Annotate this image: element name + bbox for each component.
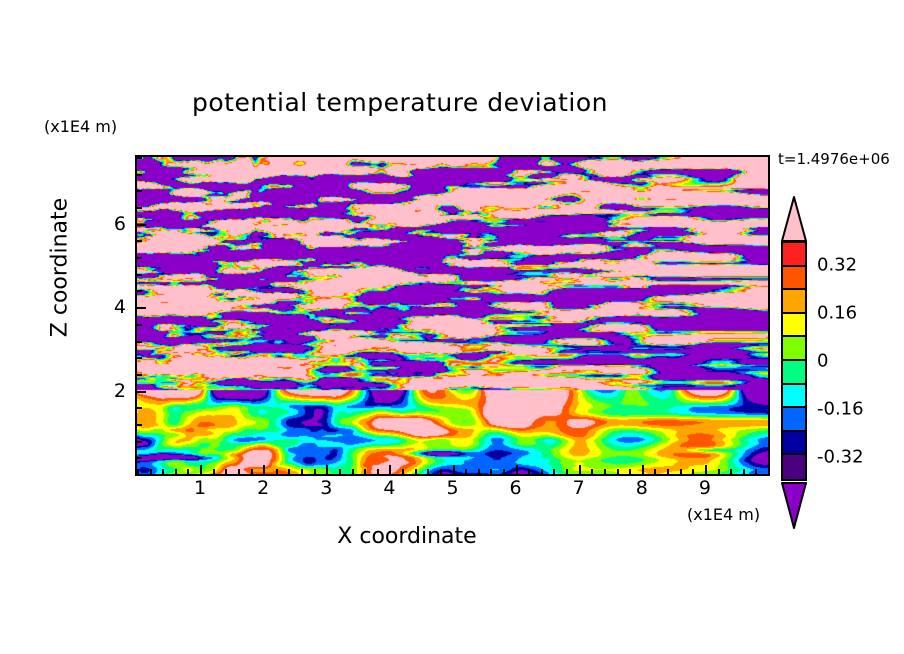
- x-tick: [427, 469, 429, 474]
- x-tick: [453, 465, 455, 474]
- z-tick: [137, 407, 142, 409]
- colorbar-band: [783, 361, 805, 385]
- x-tick: [326, 465, 328, 474]
- colorbar-band: [783, 267, 805, 291]
- colorbar-band: [783, 455, 805, 479]
- x-tick: [579, 465, 581, 474]
- colorbar: 0.320.160-0.16-0.32: [781, 196, 807, 526]
- z-tick: [137, 174, 142, 176]
- colorbar-tick-label: -0.32: [817, 447, 864, 468]
- x-tick: [187, 469, 189, 474]
- x-tick: [654, 469, 656, 474]
- x-tick: [389, 465, 391, 474]
- x-tick: [402, 469, 404, 474]
- x-tick: [150, 469, 152, 474]
- x-tick-label: 8: [636, 477, 648, 499]
- z-tick: [137, 274, 142, 276]
- z-tick: [137, 441, 142, 443]
- z-tick: [137, 290, 142, 292]
- x-tick-label: 9: [699, 477, 711, 499]
- x-tick: [162, 469, 164, 474]
- x-tick: [478, 469, 480, 474]
- z-tick: [137, 374, 142, 376]
- colorbar-band: [783, 337, 805, 361]
- y-axis-title: Z coordinate: [48, 188, 73, 348]
- x-tick: [175, 469, 177, 474]
- colorbar-tick-label: 0.32: [817, 255, 857, 276]
- x-tick-label: 3: [320, 477, 332, 499]
- colorbar-band: [783, 290, 805, 314]
- x-tick: [314, 469, 316, 474]
- x-tick: [730, 469, 732, 474]
- page-title: potential temperature deviation: [0, 88, 800, 117]
- x-tick: [352, 469, 354, 474]
- x-tick: [591, 469, 593, 474]
- x-tick: [528, 469, 530, 474]
- x-tick: [339, 469, 341, 474]
- z-axis-unit-label: (x1E4 m): [44, 117, 117, 136]
- x-tick: [667, 469, 669, 474]
- x-tick: [213, 469, 215, 474]
- x-tick: [276, 469, 278, 474]
- colorbar-band: [783, 385, 805, 409]
- z-tick: [137, 391, 146, 393]
- x-tick: [364, 469, 366, 474]
- colorbar-band: [783, 314, 805, 338]
- colorbar-tick-label: -0.16: [817, 399, 864, 420]
- x-tick: [566, 469, 568, 474]
- x-tick: [680, 469, 682, 474]
- x-tick: [490, 469, 492, 474]
- colorbar-band: [783, 432, 805, 456]
- x-tick-label: 2: [257, 477, 269, 499]
- z-tick: [137, 190, 142, 192]
- z-tick: [137, 341, 142, 343]
- x-tick-label: 7: [573, 477, 585, 499]
- x-tick: [288, 469, 290, 474]
- colorbar-under-arrow-icon: [781, 481, 807, 529]
- z-tick: [137, 224, 146, 226]
- z-tick: [137, 240, 142, 242]
- x-axis-unit-label: (x1E4 m): [687, 505, 760, 524]
- z-tick-label: 4: [96, 296, 126, 318]
- x-tick: [604, 469, 606, 474]
- x-tick: [440, 469, 442, 474]
- x-axis-title-text: X coordinate: [337, 524, 476, 549]
- contour-plot-area: [135, 155, 770, 476]
- x-tick: [642, 465, 644, 474]
- x-tick: [541, 469, 543, 474]
- x-axis-title: X coordinate: [0, 524, 900, 549]
- z-tick: [137, 424, 142, 426]
- x-tick: [200, 465, 202, 474]
- x-tick: [718, 469, 720, 474]
- x-tick: [263, 465, 265, 474]
- z-tick: [137, 257, 142, 259]
- x-tick: [743, 469, 745, 474]
- colorbar-tick-label: 0: [817, 351, 828, 372]
- x-tick: [705, 465, 707, 474]
- x-tick: [377, 469, 379, 474]
- colorbar-over-arrow-icon: [781, 196, 807, 242]
- x-tick: [238, 469, 240, 474]
- x-tick: [553, 469, 555, 474]
- z-tick-label: 6: [96, 213, 126, 235]
- x-tick: [617, 469, 619, 474]
- time-stamp-annotation: t=1.4976e+06: [778, 150, 890, 168]
- x-tick: [465, 469, 467, 474]
- z-tick-label: 2: [96, 380, 126, 402]
- z-tick: [137, 457, 142, 459]
- colorbar-band: [783, 408, 805, 432]
- z-tick: [137, 307, 146, 309]
- x-tick: [503, 469, 505, 474]
- x-tick-label: 5: [446, 477, 458, 499]
- temperature-deviation-field: [137, 157, 768, 474]
- x-tick: [225, 469, 227, 474]
- x-tick: [251, 469, 253, 474]
- z-tick: [137, 207, 142, 209]
- x-tick: [629, 469, 631, 474]
- x-tick-label: 6: [510, 477, 522, 499]
- colorbar-band: [783, 243, 805, 267]
- colorbar-bands: [781, 241, 807, 481]
- x-tick-label: 1: [194, 477, 206, 499]
- x-tick-label: 4: [383, 477, 395, 499]
- x-tick: [755, 469, 757, 474]
- z-tick: [137, 357, 142, 359]
- x-tick: [516, 465, 518, 474]
- figure-canvas: potential temperature deviation (x1E4 m)…: [0, 0, 904, 654]
- z-tick: [137, 157, 142, 159]
- x-tick: [415, 469, 417, 474]
- z-tick: [137, 474, 142, 476]
- x-tick: [301, 469, 303, 474]
- x-tick: [768, 469, 770, 474]
- z-tick: [137, 324, 142, 326]
- x-tick: [692, 469, 694, 474]
- colorbar-tick-label: 0.16: [817, 303, 857, 324]
